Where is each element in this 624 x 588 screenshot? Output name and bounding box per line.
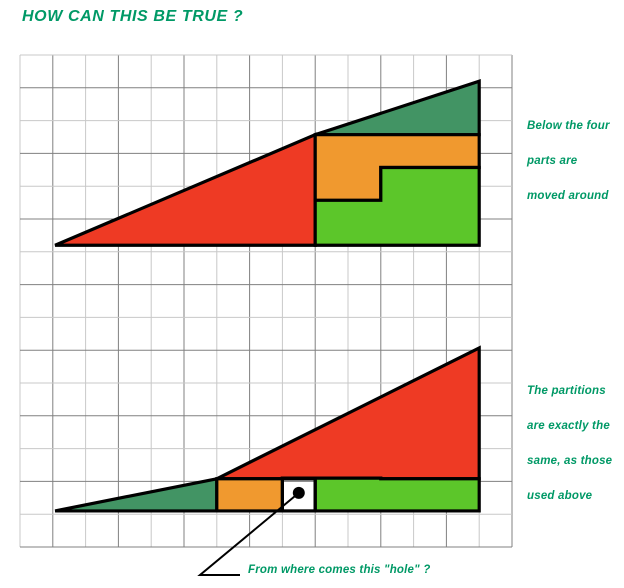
piece-dark-green-triangle [55, 479, 217, 511]
top-note-line-3: moved around [527, 190, 609, 202]
bottom-note-line-4: used above [527, 490, 592, 502]
puzzle-figure: HOW CAN THIS BE TRUE ? Below the four pa… [0, 0, 624, 588]
bottom-note-line-1: The partitions [527, 385, 606, 397]
piece-dark-green-triangle [315, 81, 479, 134]
piece-green-step-piece [315, 478, 479, 511]
piece-red-triangle [55, 135, 315, 246]
top-note-line-1: Below the four [527, 120, 610, 132]
top-note-line-2: parts are [527, 155, 577, 167]
hole-pointer-dot [293, 487, 305, 499]
hole-caption: From where comes this "hole" ? [248, 564, 430, 576]
bottom-note-line-3: same, as those [527, 455, 612, 467]
bottom-note-line-2: are exactly the [527, 420, 610, 432]
